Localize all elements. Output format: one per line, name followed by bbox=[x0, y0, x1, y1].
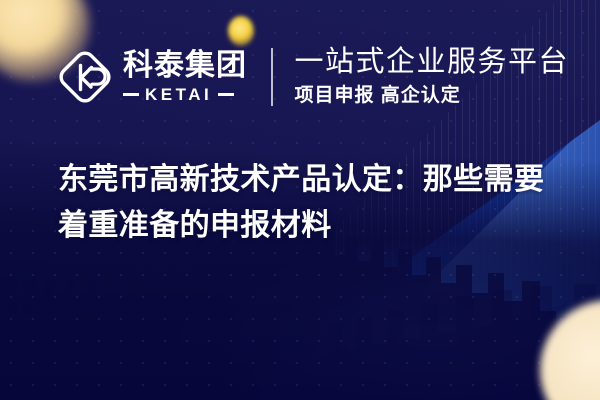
vertical-divider bbox=[271, 48, 273, 106]
dash-right-icon bbox=[218, 93, 234, 96]
slogan-primary: 一站式企业服务平台 bbox=[295, 47, 570, 78]
brand-name-en-row: KETAI bbox=[123, 86, 247, 103]
slogan-secondary: 项目申报 高企认定 bbox=[295, 86, 570, 107]
banner-header: 科泰集团 KETAI 一站式企业服务平台 项目申报 高企认定 bbox=[56, 41, 569, 113]
ketai-diamond-monogram-icon bbox=[56, 48, 114, 106]
headline-title: 东莞市高新技术产品认定：那些需要着重准备的申报材料 bbox=[58, 157, 558, 248]
brand-name-cn: 科泰集团 bbox=[123, 51, 247, 81]
promo-banner: 科泰集团 KETAI 一站式企业服务平台 项目申报 高企认定 东莞市高新技术产品… bbox=[0, 0, 600, 400]
slogan-block: 一站式企业服务平台 项目申报 高企认定 bbox=[295, 47, 570, 106]
brand-logo-text: 科泰集团 KETAI bbox=[123, 51, 247, 103]
brand-name-en: KETAI bbox=[145, 86, 212, 103]
dash-left-icon bbox=[123, 93, 139, 96]
brand-logo[interactable]: 科泰集团 KETAI bbox=[56, 48, 247, 106]
